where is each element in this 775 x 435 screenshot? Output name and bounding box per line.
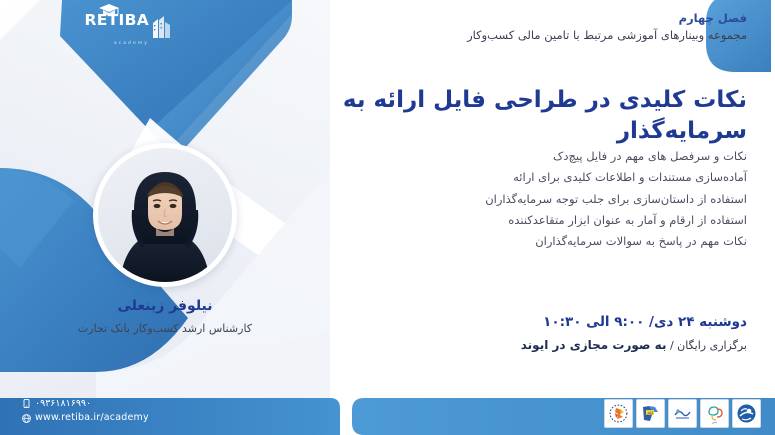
phone-row: ۰۹۳۶۱۸۱۶۹۹۰: [22, 397, 149, 412]
graduation-cap-icon: [98, 1, 120, 20]
header-block: فصل چهارم مجموعه وبینارهای آموزشی مرتبط …: [317, 10, 747, 45]
event-mode-highlight: به صورت مجازی در ایوند: [521, 338, 667, 352]
event-mode: برگزاری رایگان / به صورت مجازی در ایوند: [317, 334, 747, 357]
sponsor-logo-3: [668, 399, 697, 428]
sponsor-logo-5: [732, 399, 761, 428]
sponsor-logo-2: اتاق: [636, 399, 665, 428]
sponsor-logo-4: نبض: [700, 399, 729, 428]
globe-icon: [22, 414, 31, 423]
website-row: www.retiba.ir/academy: [22, 411, 149, 426]
svg-text:اتاق: اتاق: [647, 410, 654, 415]
webinar-poster: RETIBA academy فصل چهارم مجموعه وبینارها…: [0, 0, 775, 435]
svg-text:نبض: نبض: [712, 420, 718, 424]
logo-tagline: academy: [114, 41, 149, 46]
season-label: فصل چهارم: [317, 10, 747, 27]
topics-list: نکات و سرفصل های مهم در فایل پیچ‌دک آماد…: [297, 146, 747, 252]
list-item: آماده‌سازی مستندات و اطلاعات کلیدی برای …: [297, 167, 747, 188]
list-item: نکات و سرفصل های مهم در فایل پیچ‌دک: [297, 146, 747, 167]
avatar: [93, 143, 237, 287]
page-title: نکات کلیدی در طراحی فایل ارائه به سرمایه…: [247, 85, 747, 147]
contact-info: ۰۹۳۶۱۸۱۶۹۹۰ www.retiba.ir/academy: [22, 397, 149, 426]
list-item: استفاده از داستان‌سازی برای جلب توجه سرم…: [297, 189, 747, 210]
list-item: نکات مهم در پاسخ به سوالات سرمایه‌گذاران: [297, 231, 747, 252]
building-icon: [151, 14, 173, 44]
phone-icon: [22, 399, 31, 408]
sponsor-logo-1: [604, 399, 633, 428]
sponsor-logos: اتاق نبض: [604, 399, 761, 428]
speaker-role: کارشناس ارشد کسب‌وکار بانک تجارت: [0, 322, 330, 335]
series-subtitle: مجموعه وبینارهای آموزشی مرتبط با تامین م…: [317, 27, 747, 45]
retiba-logo: RETIBA academy: [68, 13, 173, 45]
avatar-photo: [98, 148, 232, 282]
event-mode-prefix: برگزاری رایگان /: [666, 339, 747, 352]
event-datetime: دوشنبه ۲۴ دی/ ۹:۰۰ الی ۱۰:۳۰: [317, 312, 747, 334]
list-item: استفاده از ارقام و آمار به عنوان ابزار م…: [297, 210, 747, 231]
event-meta: دوشنبه ۲۴ دی/ ۹:۰۰ الی ۱۰:۳۰ برگزاری رای…: [317, 312, 747, 356]
speaker-name: نیلوفر زینعلی: [0, 298, 330, 314]
website-url[interactable]: www.retiba.ir/academy: [35, 411, 149, 426]
phone-number[interactable]: ۰۹۳۶۱۸۱۶۹۹۰: [35, 397, 91, 412]
